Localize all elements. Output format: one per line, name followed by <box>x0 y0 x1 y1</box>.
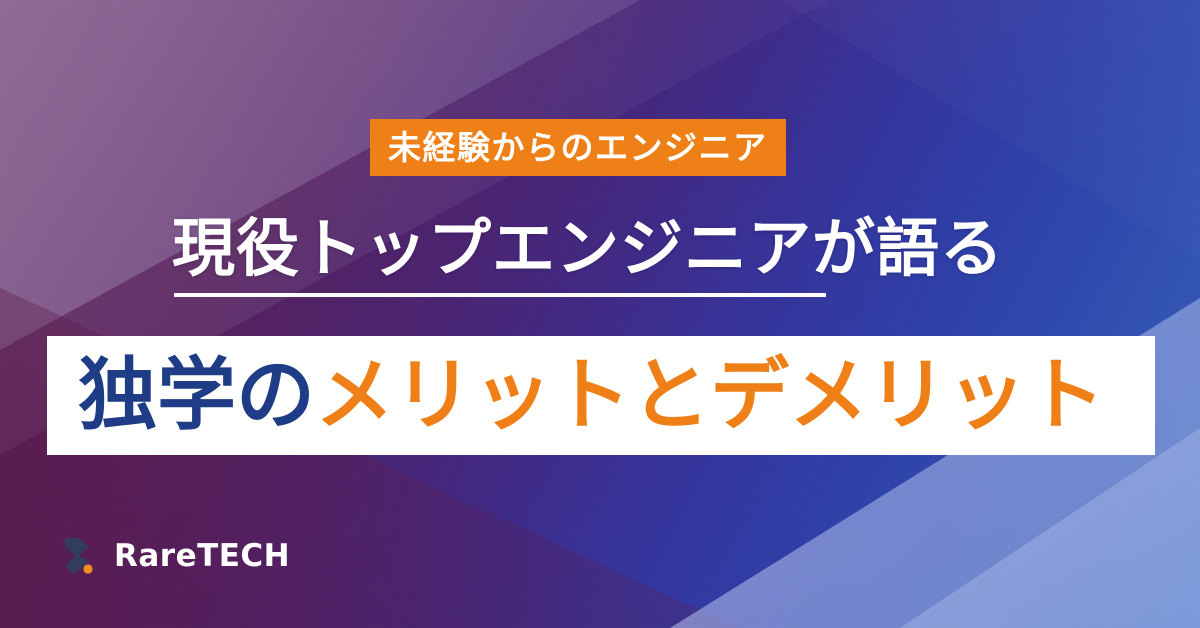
headline-underline <box>174 293 826 297</box>
raretech-wordmark: RareTECH <box>114 541 290 572</box>
banner-content: 未経験からのエンジニア 現役トップエンジニアが語る 独学の メリットとデメリット… <box>0 0 1200 628</box>
brand-logo: RareTECH <box>63 536 290 576</box>
raretech-mark-icon <box>63 536 97 576</box>
subheadline-navy-part: 独学の <box>78 356 315 435</box>
article-thumbnail-banner: 未経験からのエンジニア 現役トップエンジニアが語る 独学の メリットとデメリット… <box>0 0 1200 628</box>
subheadline: 独学の メリットとデメリット <box>78 336 1138 455</box>
headline-primary: 現役トップエンジニアが語る <box>172 212 1004 286</box>
subheadline-orange-part: メリットとデメリット <box>315 356 1105 435</box>
category-badge: 未経験からのエンジニア <box>370 119 786 176</box>
